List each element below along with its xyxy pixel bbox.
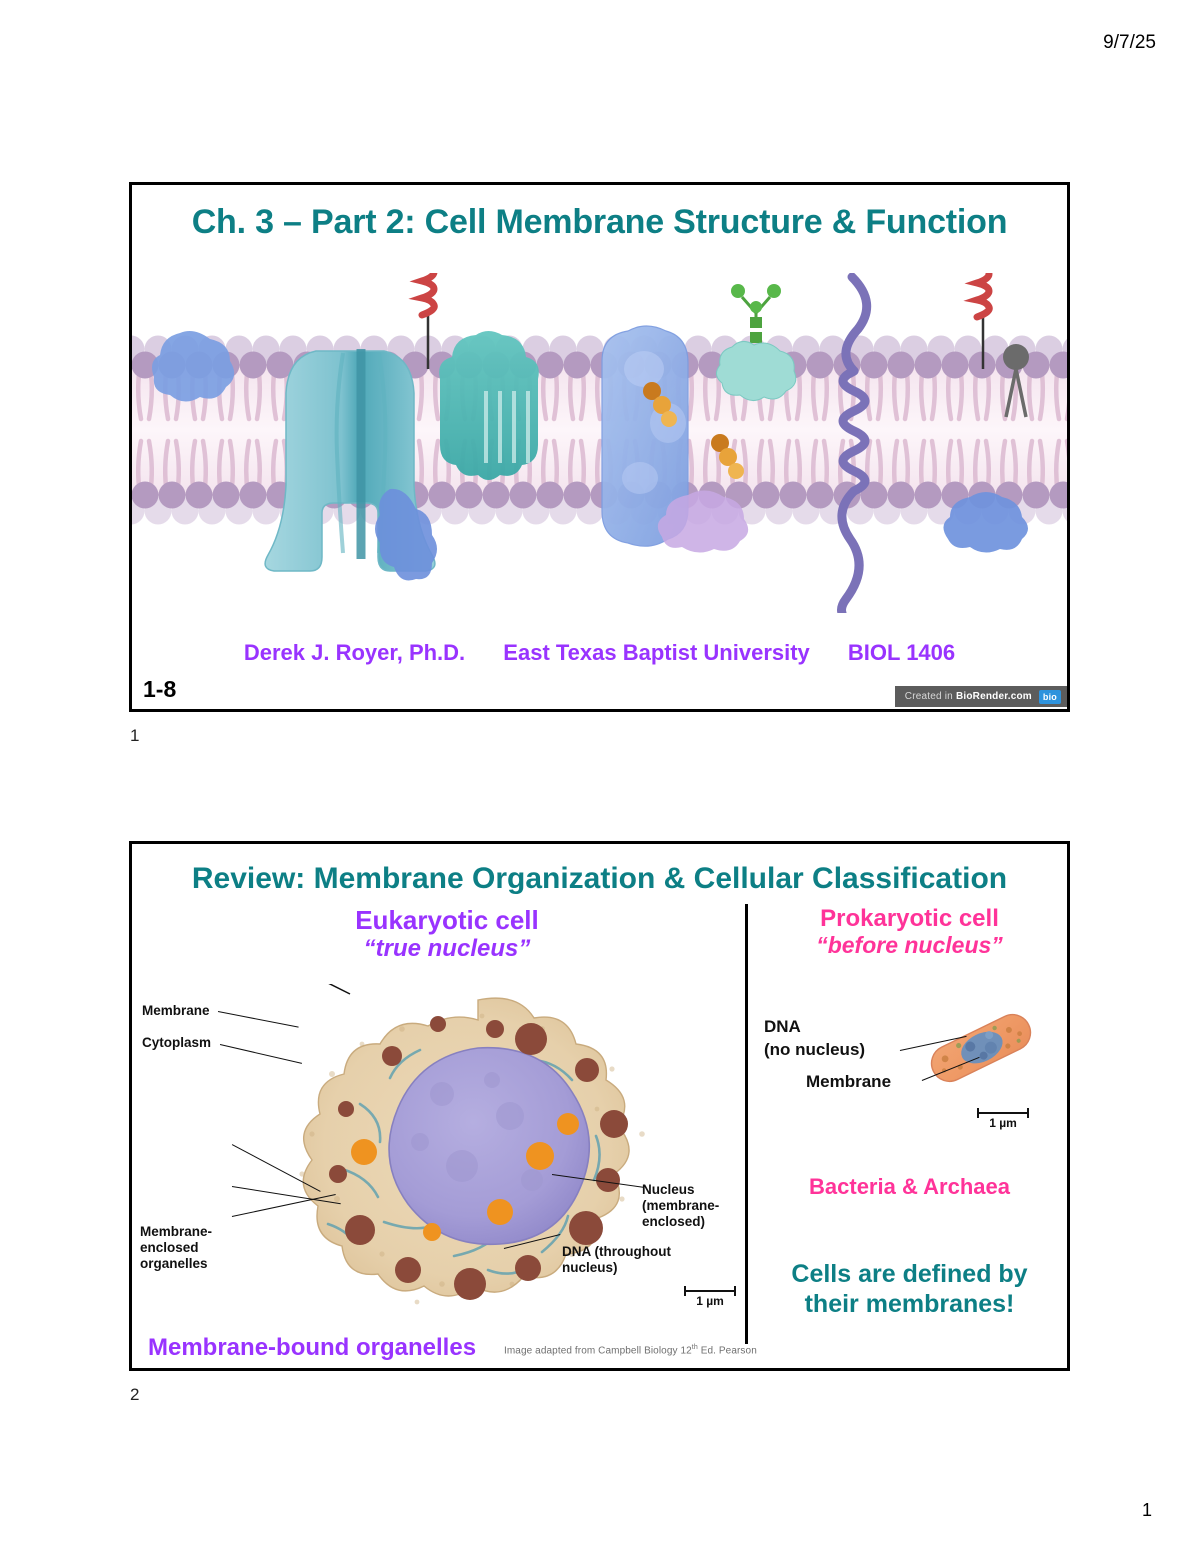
- scale-bar-eukaryotic: 1 µm: [684, 1290, 736, 1308]
- prokaryotic-heading: Prokaryotic cell: [752, 906, 1067, 932]
- scale-bar-prokaryotic: 1 µm: [977, 1112, 1029, 1130]
- page-date: 9/7/25: [1103, 32, 1156, 54]
- nucleus-line-1: Nucleus: [642, 1182, 695, 1197]
- slide-2-footer-left: Membrane-bound organelles: [148, 1334, 476, 1362]
- biorender-watermark: Created in BioRender.com bio: [895, 686, 1067, 707]
- slide-1-title: Ch. 3 – Part 2: Cell Membrane Structure …: [132, 203, 1067, 242]
- dna-euk-line-2: nucleus): [562, 1260, 618, 1275]
- organelles-line-2: enclosed: [140, 1240, 199, 1255]
- organelles-line-3: organelles: [140, 1256, 208, 1271]
- slide-1-author-line: Derek J. Royer, Ph.D. East Texas Baptist…: [132, 640, 1067, 666]
- prokaryotic-cell-micrograph: [922, 1006, 1040, 1091]
- domains-label: Bacteria & Archaea: [752, 1174, 1067, 1200]
- slide-2[interactable]: Review: Membrane Organization & Cellular…: [129, 841, 1070, 1371]
- slide-2-number: 2: [130, 1385, 139, 1405]
- label-membrane-prok: Membrane: [806, 1072, 891, 1092]
- credit-post: Ed. Pearson: [698, 1345, 757, 1356]
- label-dna-prok-line-1: DNA: [764, 1017, 801, 1037]
- nucleus-line-2: (membrane-: [642, 1198, 719, 1213]
- label-membrane-euk: Membrane: [142, 1003, 210, 1019]
- takeaway-line-1: Cells are defined by: [752, 1259, 1067, 1289]
- prokaryotic-subheading: “before nucleus”: [752, 932, 1067, 958]
- label-dna-euk: DNA (throughout nucleus): [562, 1244, 692, 1276]
- slide-1-number: 1: [130, 726, 139, 746]
- course-code: BIOL 1406: [848, 640, 955, 665]
- label-dna-prok-line-2: (no nucleus): [764, 1040, 865, 1060]
- eukaryotic-heading-group: Eukaryotic cell “true nucleus”: [162, 906, 732, 962]
- eukaryotic-subheading: “true nucleus”: [162, 935, 732, 963]
- label-nucleus: Nucleus (membrane- enclosed): [642, 1182, 742, 1230]
- slide-1[interactable]: Ch. 3 – Part 2: Cell Membrane Structure …: [129, 182, 1070, 712]
- phospholipid-bilayer-svg: [132, 273, 1070, 613]
- biorender-badge: bio: [1039, 690, 1061, 704]
- panel-divider: [745, 904, 748, 1344]
- scale-bar-label-prok: 1 µm: [977, 1116, 1029, 1130]
- author-name: Derek J. Royer, Ph.D.: [244, 640, 465, 665]
- scale-bar-label-euk: 1 µm: [684, 1294, 736, 1308]
- transport-protein-teal: [439, 331, 539, 480]
- slide-2-title: Review: Membrane Organization & Cellular…: [132, 862, 1067, 896]
- cell-membrane-figure: [132, 273, 1070, 613]
- institution-name: East Texas Baptist University: [503, 640, 810, 665]
- takeaway-statement: Cells are defined by their membranes!: [752, 1259, 1067, 1319]
- slide-1-page-tag: 1-8: [143, 676, 176, 703]
- page-number: 1: [1142, 1500, 1152, 1521]
- organelles-line-1: Membrane-: [140, 1224, 212, 1239]
- eukaryotic-cell-micrograph: [242, 984, 712, 1329]
- biorender-brand: BioRender.com: [956, 691, 1032, 702]
- biorender-prefix: Created in: [905, 691, 953, 702]
- takeaway-line-2: their membranes!: [752, 1289, 1067, 1319]
- dna-euk-line-1: DNA (throughout: [562, 1244, 671, 1259]
- slide-2-image-credit: Image adapted from Campbell Biology 12th…: [504, 1344, 757, 1356]
- credit-pre: Image adapted from Campbell Biology 12: [504, 1345, 692, 1356]
- label-cytoplasm: Cytoplasm: [142, 1035, 211, 1051]
- label-membrane-enclosed-organelles: Membrane- enclosed organelles: [140, 1224, 250, 1272]
- prokaryotic-heading-group: Prokaryotic cell “before nucleus”: [752, 906, 1067, 959]
- eukaryotic-heading: Eukaryotic cell: [162, 906, 732, 935]
- nucleus-line-3: enclosed): [642, 1214, 705, 1229]
